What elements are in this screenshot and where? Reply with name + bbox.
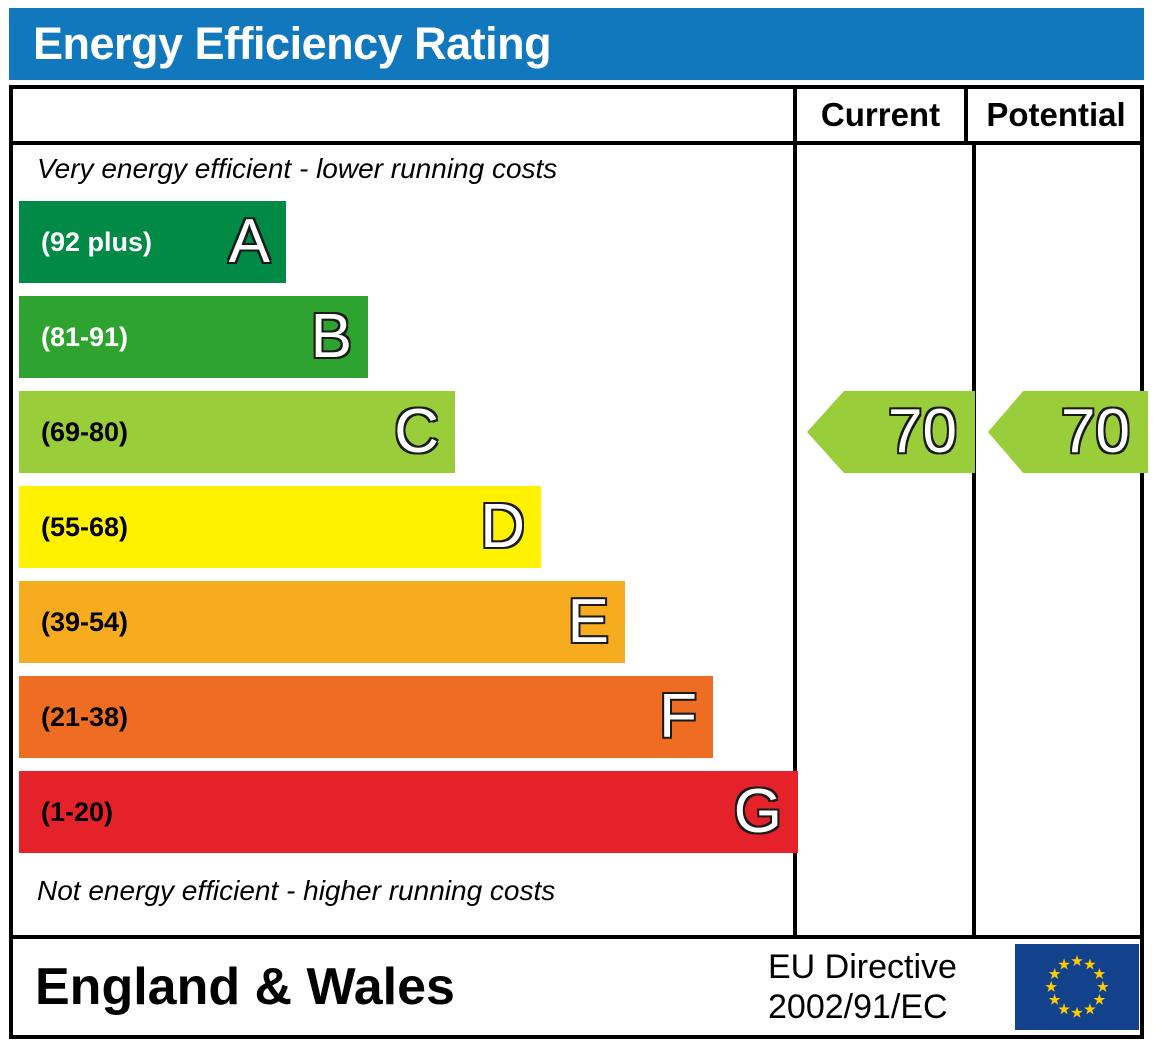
band-d: (55-68)D [19,486,541,568]
band-letter-d: D [480,496,525,558]
band-range-b: (81-91) [41,322,128,353]
band-range-e: (39-54) [41,607,128,638]
band-f: (21-38)F [19,676,713,758]
bands-area: Very energy efficient - lower running co… [13,145,793,935]
band-letter-f: F [659,686,697,748]
energy-efficiency-rating-chart: Energy Efficiency Rating Current Potenti… [0,0,1153,1048]
band-letter-b: B [311,306,352,368]
band-c: (69-80)C [19,391,455,473]
chart-frame: Current Potential Very energy efficient … [9,85,1144,1039]
eu-directive-line-2: 2002/91/EC [768,987,957,1027]
band-letter-c: C [394,401,439,463]
rating-arrow-potential: 70 [988,391,1148,473]
rating-value-potential: 70 [1061,401,1148,463]
rating-value-current: 70 [888,401,975,463]
country-label: England & Wales [35,957,455,1017]
band-a: (92 plus)A [19,201,286,283]
caption-bottom: Not energy efficient - higher running co… [37,875,555,907]
column-header-potential: Potential [972,89,1140,141]
band-e: (39-54)E [19,581,625,663]
column-header-current: Current [793,89,968,141]
rating-arrow-current: 70 [807,391,975,473]
band-letter-a: A [229,211,270,273]
band-range-a: (92 plus) [41,227,152,258]
band-range-g: (1-20) [41,797,113,828]
footer: England & Wales EU Directive 2002/91/EC [13,939,1140,1035]
band-range-d: (55-68) [41,512,128,543]
title-bar: Energy Efficiency Rating [9,8,1144,80]
band-letter-g: G [734,781,782,843]
page-title: Energy Efficiency Rating [33,18,551,70]
eu-directive-line-1: EU Directive [768,947,957,987]
eu-flag-icon [1015,944,1139,1030]
band-g: (1-20)G [19,771,798,853]
caption-top: Very energy efficient - lower running co… [37,153,557,185]
eu-directive-label: EU Directive 2002/91/EC [768,947,957,1027]
band-range-f: (21-38) [41,702,128,733]
table-header-row: Current Potential [13,89,1140,145]
band-range-c: (69-80) [41,417,128,448]
band-b: (81-91)B [19,296,368,378]
band-letter-e: E [568,591,609,653]
column-divider-right [972,145,976,935]
